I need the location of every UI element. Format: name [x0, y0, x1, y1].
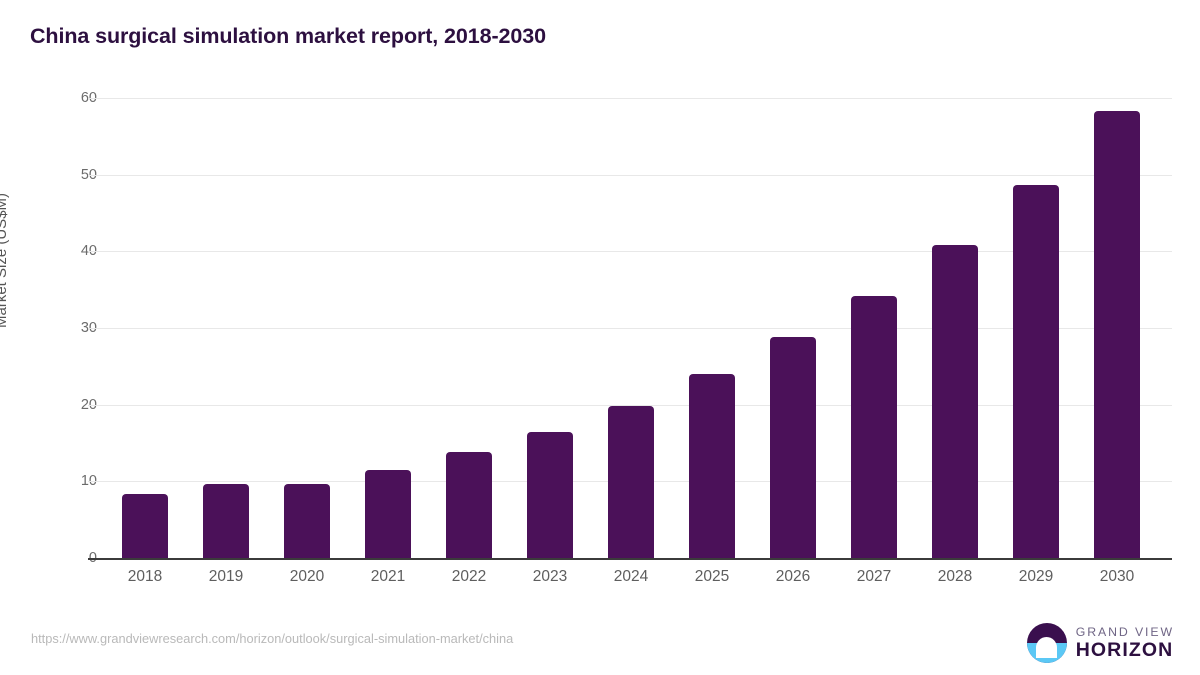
- chart-canvas: China surgical simulation market report,…: [0, 0, 1200, 675]
- x-axis-tick-label-2023: 2023: [510, 568, 590, 586]
- logo-ray-lower: [1042, 653, 1052, 656]
- bar-2020[interactable]: [284, 484, 330, 558]
- bar-2018[interactable]: [122, 494, 168, 558]
- gridline: [88, 251, 1172, 252]
- logo-ray-upper: [1039, 649, 1055, 652]
- source-url[interactable]: https://www.grandviewresearch.com/horizo…: [31, 631, 513, 646]
- bar-2029[interactable]: [1013, 185, 1059, 558]
- x-axis-tick-label-2026: 2026: [753, 568, 833, 586]
- x-axis-tick-label-2021: 2021: [348, 568, 428, 586]
- gridline: [88, 175, 1172, 176]
- x-axis-tick-label-2029: 2029: [996, 568, 1076, 586]
- x-axis-tick-label-2027: 2027: [834, 568, 914, 586]
- grand-view-horizon-logo[interactable]: GRAND VIEW HORIZON: [1027, 620, 1174, 666]
- page-title: China surgical simulation market report,…: [30, 24, 546, 49]
- x-axis-tick-label-2020: 2020: [267, 568, 347, 586]
- logo-text-grand-view: GRAND VIEW: [1076, 626, 1174, 638]
- x-axis-tick-label-2028: 2028: [915, 568, 995, 586]
- logo-text-horizon: HORIZON: [1076, 641, 1174, 661]
- bar-2027[interactable]: [851, 296, 897, 558]
- bar-2019[interactable]: [203, 484, 249, 558]
- bar-2030[interactable]: [1094, 111, 1140, 558]
- bar-2022[interactable]: [446, 452, 492, 558]
- x-axis-tick-label-2030: 2030: [1077, 568, 1157, 586]
- x-axis-tick-label-2025: 2025: [672, 568, 752, 586]
- bar-2028[interactable]: [932, 245, 978, 558]
- logo-wordmark: GRAND VIEW HORIZON: [1076, 626, 1174, 661]
- x-axis-tick-label-2024: 2024: [591, 568, 671, 586]
- gridline: [88, 98, 1172, 99]
- gridline: [88, 328, 1172, 329]
- plot-area: [88, 98, 1172, 558]
- bar-2021[interactable]: [365, 470, 411, 558]
- bar-2024[interactable]: [608, 406, 654, 558]
- x-axis-tick-label-2019: 2019: [186, 568, 266, 586]
- x-axis-line: [88, 558, 1172, 560]
- x-axis-tick-label-2018: 2018: [105, 568, 185, 586]
- y-axis-title: Market Size (US$M): [0, 193, 10, 328]
- bar-2025[interactable]: [689, 374, 735, 558]
- x-axis-tick-label-2022: 2022: [429, 568, 509, 586]
- bar-2023[interactable]: [527, 432, 573, 559]
- bar-2026[interactable]: [770, 337, 816, 558]
- horizon-sun-icon: [1027, 623, 1067, 663]
